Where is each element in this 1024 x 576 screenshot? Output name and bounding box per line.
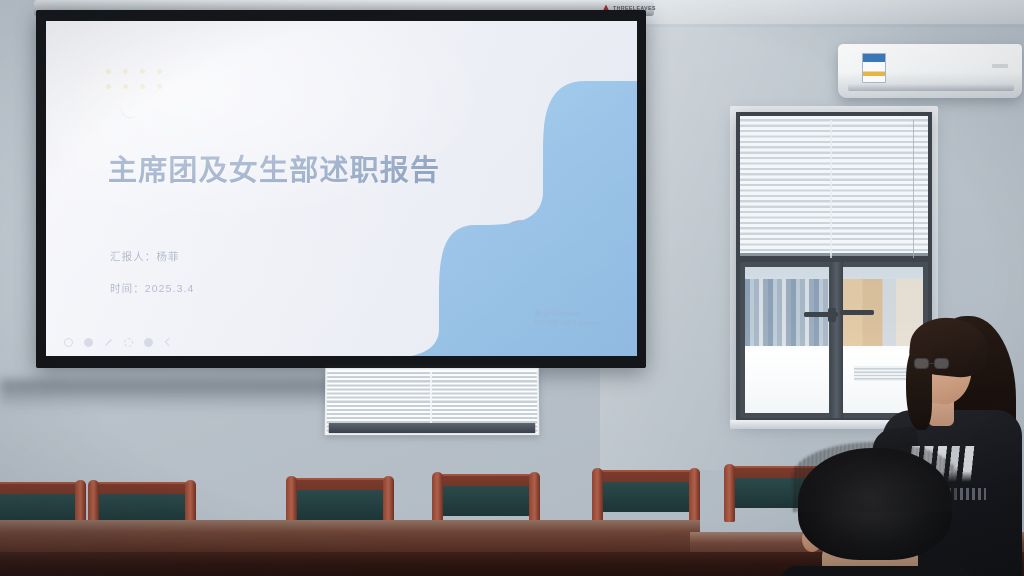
cursor-circle-icon[interactable] [84,338,93,347]
glasses-icon [914,358,952,371]
classroom-scene: THREELEAVES 主席团及女生部述职报告 汇报人：杨菲 时间：2025.3… [0,0,1024,576]
blind-cord[interactable] [913,120,914,258]
window-mullion [830,262,843,418]
watermark-line-1: 激活 Windows [534,309,601,320]
laser-pointer-icon[interactable] [144,338,153,347]
window-handle-right[interactable] [840,310,874,315]
windows-activation-watermark: 激活 Windows 转到"设置"以激活 Windows [534,309,601,328]
circle-outline-icon[interactable] [64,338,73,347]
vent-split [430,372,432,423]
slide-date-line: 时间：2025.3.4 [110,281,194,296]
window-blinds[interactable] [740,116,928,256]
slide-presenter-line: 汇报人：杨菲 [110,249,194,264]
audience-hair-texture [792,442,958,512]
screen-shadow [0,380,340,410]
presentation-toolbar[interactable] [64,338,173,347]
slide-title: 主席团及女生部述职报告 [108,147,440,189]
spotlight-icon[interactable] [124,338,133,347]
slide-dot-grid-decoration [106,69,174,99]
chair [590,460,702,528]
slide-canvas: 主席团及女生部述职报告 汇报人：杨菲 时间：2025.3.4 激活 Window… [46,21,637,356]
watermark-line-2: 转到"设置"以激活 Windows [534,320,601,328]
screen-surface: 主席团及女生部述职报告 汇报人：杨菲 时间：2025.3.4 激活 Window… [46,21,637,356]
audience-shoulder [778,566,974,576]
wall-vent-panel [325,368,540,435]
slide-meta-block: 汇报人：杨菲 时间：2025.3.4 [110,249,194,296]
energy-label-sticker [862,53,886,83]
ac-display-panel [992,64,1008,68]
window-pane-left [740,262,834,418]
blind-split [830,120,832,258]
window-handle-left[interactable] [804,312,838,317]
pen-icon[interactable] [104,338,113,347]
slide-squiggle-decoration [120,105,135,120]
vent-base [329,423,536,433]
projection-screen: 主席团及女生部述职报告 汇报人：杨菲 时间：2025.3.4 激活 Window… [36,10,646,368]
air-conditioner [838,44,1022,98]
ac-air-vent [848,83,1014,91]
audience-person [792,448,958,576]
chevron-left-icon[interactable] [164,338,173,347]
